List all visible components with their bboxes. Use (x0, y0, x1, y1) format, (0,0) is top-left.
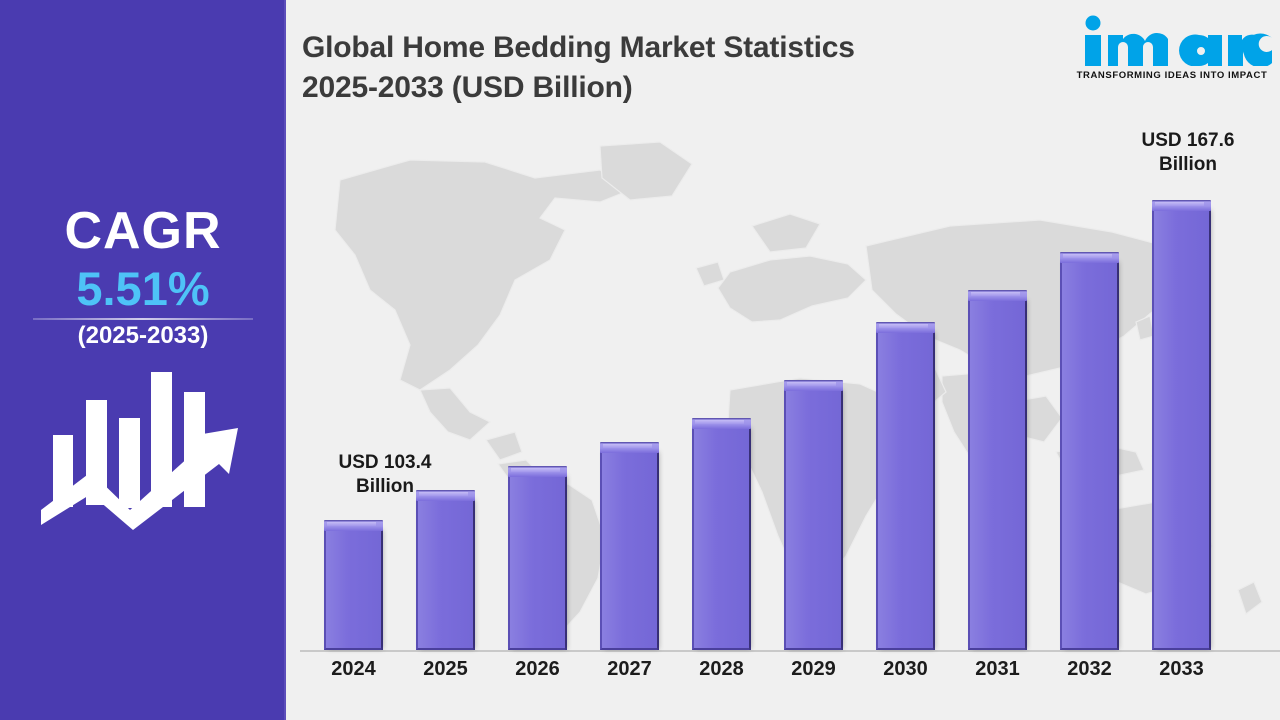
bar-body-2031 (968, 299, 1025, 650)
bar-cap-2026 (508, 466, 567, 477)
bar-2024[interactable] (324, 520, 383, 650)
cagr-divider (33, 318, 253, 320)
callout-first-line1: USD 103.4 (300, 451, 470, 475)
page-title: Global Home Bedding Market Statistics 20… (302, 28, 1002, 108)
bar-body-2030 (876, 331, 933, 650)
bar-body-2028 (692, 427, 749, 650)
bar-2028[interactable] (692, 418, 751, 650)
page-title-line2: 2025-2033 (USD Billion) (302, 68, 1002, 108)
bar-2033[interactable] (1152, 200, 1211, 650)
callout-first-value: USD 103.4 Billion (300, 451, 470, 499)
bar-cap-2030 (876, 322, 935, 333)
callout-last-line1: USD 167.6 (1108, 129, 1268, 153)
bar-cap-2024 (324, 520, 383, 531)
bar-cap-2029 (784, 380, 843, 391)
xlabel-2032: 2032 (1060, 658, 1119, 681)
bar-body-2032 (1060, 261, 1117, 650)
page-title-line1: Global Home Bedding Market Statistics (302, 28, 1002, 68)
bar-2029[interactable] (784, 380, 843, 650)
bar-body-2029 (784, 389, 841, 650)
bar-2027[interactable] (600, 442, 659, 650)
bar-body-2025 (416, 499, 473, 650)
cagr-label: CAGR (0, 205, 286, 257)
xlabel-2028: 2028 (692, 658, 751, 681)
bar-body-2033 (1152, 209, 1209, 650)
bar-2026[interactable] (508, 466, 567, 650)
bar-2031[interactable] (968, 290, 1027, 650)
xlabel-2031: 2031 (968, 658, 1027, 681)
callout-last-value: USD 167.6 Billion (1108, 129, 1268, 177)
callout-last-line2: Billion (1108, 153, 1268, 177)
callout-first-line2: Billion (300, 475, 470, 499)
bar-cap-2028 (692, 418, 751, 429)
xlabel-2027: 2027 (600, 658, 659, 681)
bar-2030[interactable] (876, 322, 935, 650)
cagr-period: (2025-2033) (0, 322, 286, 350)
xlabel-2026: 2026 (508, 658, 567, 681)
bar-2032[interactable] (1060, 252, 1119, 650)
bar-body-2024 (324, 529, 381, 650)
xlabel-2030: 2030 (876, 658, 935, 681)
xlabel-2024: 2024 (324, 658, 383, 681)
xlabel-2029: 2029 (784, 658, 843, 681)
bar-body-2027 (600, 451, 657, 650)
bar-cap-2032 (1060, 252, 1119, 263)
imarc-tagline: TRANSFORMING IDEAS INTO IMPACT (1072, 70, 1272, 81)
axis-baseline (300, 650, 1280, 652)
imarc-logo: TRANSFORMING IDEAS INTO IMPACT (1072, 8, 1272, 88)
cagr-value: 5.51% (0, 265, 286, 312)
bar-2025[interactable] (416, 490, 475, 650)
infographic-root: CAGR 5.51% (2025-2033) Global Home Beddi… (0, 0, 1280, 720)
bar-cap-2033 (1152, 200, 1211, 211)
bar-chart-growth-arrow-icon (33, 360, 253, 530)
cagr-panel: CAGR 5.51% (2025-2033) (0, 0, 286, 720)
xlabel-2025: 2025 (416, 658, 475, 681)
bar-cap-2027 (600, 442, 659, 453)
imarc-wordmark-icon (1072, 14, 1272, 66)
bar-body-2026 (508, 475, 565, 650)
xlabel-2033: 2033 (1152, 658, 1211, 681)
bar-chart-plot: 2024 2025 2026 2027 2028 2029 2030 2031 … (300, 140, 1280, 652)
bar-cap-2031 (968, 290, 1027, 301)
